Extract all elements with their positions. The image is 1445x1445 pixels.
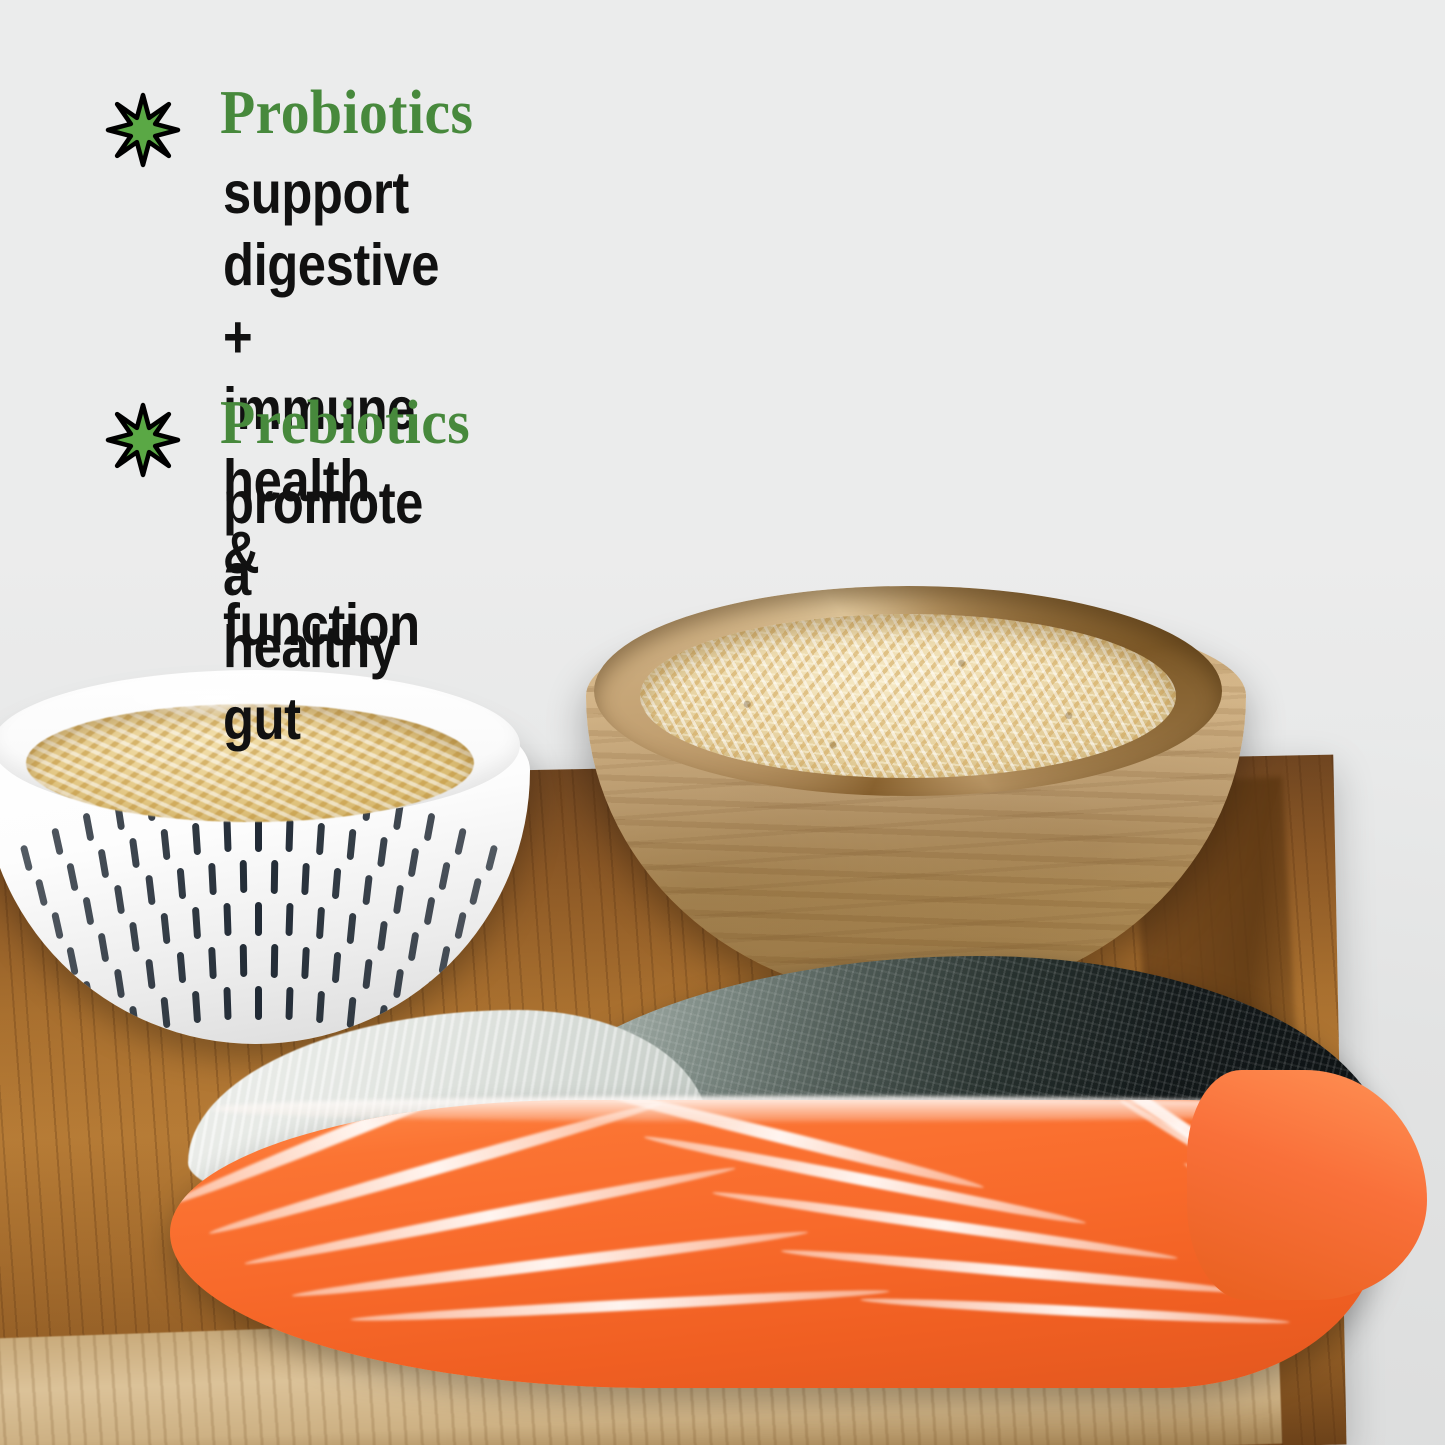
bowl-dash [51, 996, 64, 1024]
bowl-dash [4, 981, 18, 1008]
bowl-dash [240, 860, 248, 894]
bowl-dash [454, 911, 467, 939]
bowl-dash [82, 813, 94, 842]
bowl-dash [393, 884, 404, 914]
bowl-dash [98, 933, 110, 963]
bowl-dash [35, 962, 48, 990]
bowl-dash [129, 838, 140, 869]
salmon-fillet [170, 950, 1415, 1395]
bowl-dash [208, 863, 217, 896]
bowl-dash [145, 875, 156, 906]
bowl-dash [160, 913, 170, 944]
bowl-dash [271, 860, 279, 894]
bowl-dash [285, 903, 293, 936]
bowl-dash [377, 837, 388, 868]
bowl-dash [20, 929, 33, 956]
bowl-dash [82, 981, 94, 1010]
wooden-bowl [578, 580, 1258, 1000]
bowl-dash [469, 877, 482, 905]
bowl-dash [51, 828, 64, 856]
bowl-dash [129, 1006, 140, 1037]
bowl-dash [362, 875, 373, 906]
bowl-dash [423, 897, 435, 926]
bowl-dash [301, 863, 310, 896]
bowl-dash [66, 1030, 78, 1044]
bowl-dash [177, 868, 187, 900]
bowl-dash [4, 897, 18, 924]
bowl-dash [255, 902, 262, 936]
bowl-dash [377, 921, 388, 952]
bowl-dash [192, 907, 201, 939]
bowl-dash [114, 969, 125, 999]
bowl-dash [145, 959, 156, 990]
bowl-dash [114, 885, 125, 915]
eight-point-star-icon [105, 92, 181, 168]
salmon-fat-line [860, 1295, 1290, 1327]
bowl-dash [454, 827, 467, 855]
bowl-dash [20, 845, 33, 872]
bowl-dash [66, 862, 78, 891]
bowl-dash [223, 903, 231, 936]
benefit-description: promote a healthy gut [223, 468, 423, 756]
bowl-dash [98, 1017, 110, 1044]
bowl-dash [0, 865, 2, 891]
bowl-dash [500, 896, 514, 923]
bowl-dash [192, 823, 201, 855]
bowl-dash [98, 849, 110, 879]
bowl-dash [423, 813, 435, 842]
bowl-dash [332, 867, 342, 899]
bowl-dash [346, 829, 356, 861]
bowl-dash [51, 912, 64, 940]
bowl-dash [160, 829, 170, 860]
salmon-fat-line [350, 1286, 890, 1325]
bowl-dash [346, 913, 356, 945]
bowl-dash [485, 844, 498, 871]
bowl-dash [316, 823, 325, 855]
benefit-heading: Prebiotics [220, 392, 470, 454]
bowl-dash [0, 1033, 2, 1044]
promo-graphic: Probiotics support digestive + immune he… [0, 0, 1445, 1445]
bowl-dash [285, 819, 293, 852]
bowl-dash [66, 946, 78, 975]
benefit-heading: Probiotics [220, 82, 473, 144]
bowl-dash [129, 922, 140, 953]
eight-point-star-icon [105, 402, 181, 478]
bowl-dash [0, 949, 2, 975]
benefits-list: Probiotics support digestive + immune he… [0, 0, 1445, 560]
bowl-dash [35, 878, 48, 906]
bowl-dash [316, 907, 325, 939]
bowl-dash [438, 861, 450, 890]
rolled-oats [640, 614, 1176, 778]
bowl-dash [408, 848, 420, 878]
bowl-dash [82, 897, 94, 926]
bowl-dash [20, 1013, 33, 1040]
salmon-tail-end [1187, 1070, 1427, 1300]
bowl-dash [223, 819, 231, 852]
food-photograph [0, 540, 1445, 1445]
bowl-dash [255, 818, 262, 852]
